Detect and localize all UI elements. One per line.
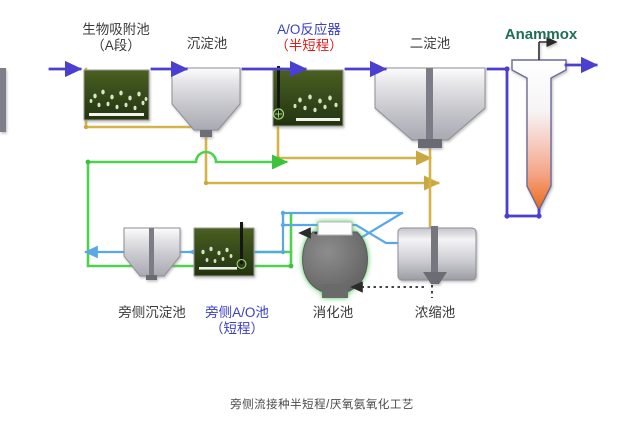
sludge-node-a [84, 125, 88, 129]
mixer-shaft-side [240, 222, 243, 264]
digester-cap [318, 222, 352, 235]
seed-node-b [289, 264, 294, 269]
seed-line-crossing-hop [88, 152, 286, 162]
unit-thickener[interactable] [398, 226, 476, 284]
blue-node-c [281, 250, 285, 254]
blue-node-b [281, 223, 285, 227]
label-secondary-clarifier: 二淀池 [385, 36, 475, 52]
purple-node-a [504, 66, 509, 71]
label-bio-adsorption-tank: 生物吸附池 （A段） [56, 22, 176, 54]
digester-base [322, 284, 348, 298]
mixer-shaft [277, 66, 280, 114]
label-primary-clarifier: 沉淀池 [162, 36, 252, 52]
unit-side-clarifier[interactable] [124, 228, 180, 280]
side-underflow [146, 275, 157, 280]
label-side-ao-line2: （短程） [184, 321, 290, 337]
diffuser-bar [89, 113, 144, 116]
center-shaft-side [149, 228, 154, 278]
process-flow-svg [0, 0, 644, 442]
unit-side-ao-tank[interactable] [194, 222, 254, 276]
seed-node-a [86, 160, 91, 165]
underflow-cone [200, 130, 212, 137]
label-bio-adsorption-line2: （A段） [56, 38, 176, 54]
diagram-canvas: 生物吸附池 （A段） 沉淀池 A/O反应器 （半短程） 二淀池 Anammox … [0, 0, 644, 442]
label-anammox-reactor: Anammox [489, 26, 593, 44]
label-ao-reactor-line1: A/O反应器 [253, 22, 365, 38]
center-shaft-secondary [426, 68, 433, 140]
label-secondary-clarifier-line1: 二淀池 [385, 36, 475, 52]
diagram-caption: 旁侧流接种半短程/厌氧氨氧化工艺 [0, 396, 644, 412]
blue-diag-to-digester [359, 213, 402, 239]
label-ao-reactor-line2: （半短程） [253, 38, 365, 54]
label-anammox-line1: Anammox [489, 26, 593, 44]
center-shaft [0, 68, 6, 132]
purple-node-b [504, 213, 509, 218]
unit-anammox-reactor[interactable] [512, 42, 566, 210]
diffuser-bar-ao [296, 118, 340, 121]
sludge-node-c [276, 156, 280, 160]
stream-seed-return [88, 152, 291, 266]
sludge-node-d [204, 181, 208, 185]
unit-ao-reactor[interactable] [273, 66, 343, 126]
label-thickener-line1: 浓缩池 [392, 305, 478, 321]
label-side-ao-line1: 旁侧A/O池 [184, 305, 290, 321]
label-thickener: 浓缩池 [392, 305, 478, 321]
label-bio-adsorption-line1: 生物吸附池 [56, 22, 176, 38]
blue-node-a [281, 211, 285, 215]
purple-node-c [536, 213, 541, 218]
label-primary-clarifier-line1: 沉淀池 [162, 36, 252, 52]
unit-secondary-clarifier[interactable] [375, 68, 485, 148]
label-side-ao-tank: 旁侧A/O池 （短程） [184, 305, 290, 337]
label-digester-line1: 消化池 [290, 305, 376, 321]
label-digester: 消化池 [290, 305, 376, 321]
diffuser-bar-side [199, 267, 237, 270]
unit-bio-adsorption-tank[interactable] [84, 70, 149, 120]
underflow-hopper [418, 139, 442, 148]
label-ao-reactor: A/O反应器 （半短程） [253, 22, 365, 54]
